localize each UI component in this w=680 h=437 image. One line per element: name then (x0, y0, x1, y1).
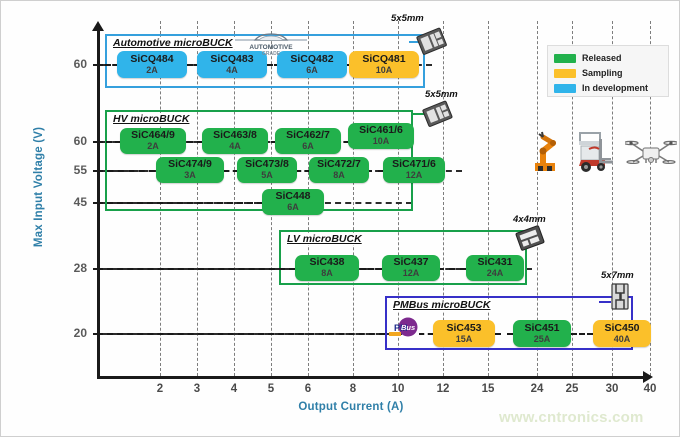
legend-swatch-released (554, 54, 576, 63)
x-tick-label-5: 5 (256, 383, 286, 395)
watermark: www.cntronics.com (499, 409, 644, 426)
part-number: SiC463/8 (213, 130, 257, 141)
connector (224, 170, 238, 172)
part-current: 15A (456, 335, 473, 344)
part-current: 24A (487, 269, 504, 278)
y-axis-title: Max Input Voltage (V) (33, 87, 45, 287)
y-tick-label-45: 45 (53, 195, 87, 209)
legend-item-sampling: Sampling (554, 66, 662, 80)
part-current: 4A (229, 142, 241, 151)
part-box-sic4749[interactable]: SiC474/9 3A (156, 157, 224, 183)
part-box-sic4727[interactable]: SiC472/7 8A (309, 157, 369, 183)
y-tick-label-20: 20 (53, 326, 87, 340)
group-label-hv: HV microBUCK (111, 113, 191, 125)
part-current: 2A (147, 142, 159, 151)
legend-label: In development (582, 83, 648, 93)
x-tick-label-3: 3 (182, 383, 212, 395)
part-box-sic4638[interactable]: SiC463/8 4A (202, 128, 268, 154)
package-label-pmbus: 5x7mm (601, 270, 634, 281)
part-current: 12A (406, 171, 423, 180)
part-current: 6A (287, 203, 299, 212)
connector (97, 170, 155, 172)
y-tick-label-60a: 60 (53, 57, 87, 71)
part-number: SiC472/7 (317, 159, 361, 170)
x-tick-label-4: 4 (219, 383, 249, 395)
legend-label: Released (582, 53, 622, 63)
package-icon-4x4mm-lv (513, 223, 547, 258)
x-tick-label-10: 10 (383, 383, 413, 395)
y-tick-label-60b: 60 (53, 134, 87, 148)
connector (97, 64, 119, 66)
part-number: SiC448 (275, 191, 310, 202)
svg-text:GRADE: GRADE (262, 51, 281, 57)
x-tick-label-25: 25 (557, 383, 587, 395)
part-number: SiC453 (446, 323, 481, 334)
x-axis (97, 376, 645, 379)
part-box-sic451[interactable]: SiC451 25A (513, 320, 571, 347)
svg-text:Bus: Bus (401, 323, 415, 332)
part-number: SiC471/6 (392, 159, 436, 170)
part-current: 10A (376, 66, 393, 75)
package-icon-5x7mm-pmbus (607, 282, 633, 317)
part-current: 4A (226, 66, 238, 75)
x-tick-label-15: 15 (473, 383, 503, 395)
svg-text:AUTOMOTIVE: AUTOMOTIVE (249, 44, 293, 51)
x-tick-label-8: 8 (338, 383, 368, 395)
x-tick-label-2: 2 (145, 383, 175, 395)
connector (97, 202, 263, 204)
part-box-sic431[interactable]: SiC431 24A (466, 255, 524, 281)
legend-swatch-sampling (554, 69, 576, 78)
legend-swatch-in-development (554, 84, 576, 93)
connector (97, 268, 295, 270)
x-tick-label-24: 24 (522, 383, 552, 395)
part-box-sicq481[interactable]: SiCQ481 10A (349, 51, 419, 78)
part-number: SiC474/9 (168, 159, 212, 170)
part-number: SiC473/8 (245, 159, 289, 170)
legend-item-in-development: In development (554, 81, 662, 95)
y-tick-label-55: 55 (53, 163, 87, 177)
part-number: SiCQ481 (362, 54, 405, 65)
x-axis-arrow-icon (643, 371, 653, 383)
connector (187, 141, 203, 143)
legend-label: Sampling (582, 68, 623, 78)
package-label-automotive: 5x5mm (391, 13, 424, 24)
part-box-sic453[interactable]: SiC453 15A (433, 320, 495, 347)
legend-item-released: Released (554, 51, 662, 65)
group-label-pmbus: PMBus microBUCK (391, 299, 492, 311)
part-current: 10A (373, 137, 390, 146)
part-current: 6A (302, 142, 314, 151)
part-box-sic437[interactable]: SiC437 12A (382, 255, 440, 281)
part-current: 2A (146, 66, 158, 75)
part-current: 6A (306, 66, 318, 75)
package-icon-5x5mm-hv (419, 99, 455, 134)
connector (296, 170, 310, 172)
connector (438, 268, 466, 270)
part-current: 5A (261, 171, 273, 180)
pmbus-logo-icon: PM Bus (387, 317, 421, 339)
part-current: 12A (403, 269, 420, 278)
part-box-sic4716[interactable]: SiC471/6 12A (383, 157, 445, 183)
part-number: SiCQ484 (130, 54, 173, 65)
x-tick-label-40: 40 (635, 383, 665, 395)
part-number: SiC437 (393, 257, 428, 268)
part-box-sic4627[interactable]: SiC462/7 6A (275, 128, 341, 154)
part-number: SiC438 (309, 257, 344, 268)
x-tick-label-6: 6 (293, 383, 323, 395)
part-box-sic448[interactable]: SiC448 6A (262, 189, 324, 215)
part-number: SiC464/9 (131, 130, 175, 141)
part-current: 8A (333, 171, 345, 180)
drone-icon (625, 129, 677, 173)
automotive-grade-badge-icon: AUTOMOTIVE GRADE (229, 31, 313, 57)
connector (495, 333, 513, 335)
part-current: 25A (534, 335, 551, 344)
part-box-sicq484[interactable]: SiCQ484 2A (117, 51, 187, 78)
forklift-icon (567, 129, 621, 173)
y-axis (97, 29, 100, 379)
part-number: SiC462/7 (286, 130, 330, 141)
part-box-sic438[interactable]: SiC438 8A (295, 255, 359, 281)
part-current: 3A (184, 171, 196, 180)
roadmap-chart: Max Input Voltage (V) Output Current (A)… (0, 0, 680, 437)
part-box-sic4616[interactable]: SiC461/6 10A (348, 123, 414, 149)
part-number: SiC431 (477, 257, 512, 268)
x-tick-label-12: 12 (428, 383, 458, 395)
connector (571, 333, 593, 335)
part-number: SiC451 (524, 323, 559, 334)
part-box-sic4649[interactable]: SiC464/9 2A (120, 128, 186, 154)
connector (97, 333, 385, 335)
x-axis-title: Output Current (A) (251, 401, 451, 413)
part-number: SiC461/6 (359, 125, 403, 136)
part-number: SiC450 (604, 323, 639, 334)
connector (419, 333, 433, 335)
robot-arm-icon (529, 129, 563, 173)
group-label-automotive: Automotive microBUCK (111, 37, 235, 49)
connector (360, 268, 382, 270)
application-icons (529, 127, 677, 173)
part-box-sic450[interactable]: SiC450 40A (593, 320, 651, 347)
y-tick-label-28: 28 (53, 261, 87, 275)
connector (97, 141, 121, 143)
part-box-sic4738[interactable]: SiC473/8 5A (237, 157, 297, 183)
group-label-lv: LV microBUCK (285, 233, 364, 245)
part-current: 8A (321, 269, 333, 278)
part-current: 40A (614, 335, 631, 344)
x-tick-label-30: 30 (597, 383, 627, 395)
y-axis-arrow-icon (92, 21, 104, 31)
legend: Released Sampling In development (547, 45, 669, 97)
